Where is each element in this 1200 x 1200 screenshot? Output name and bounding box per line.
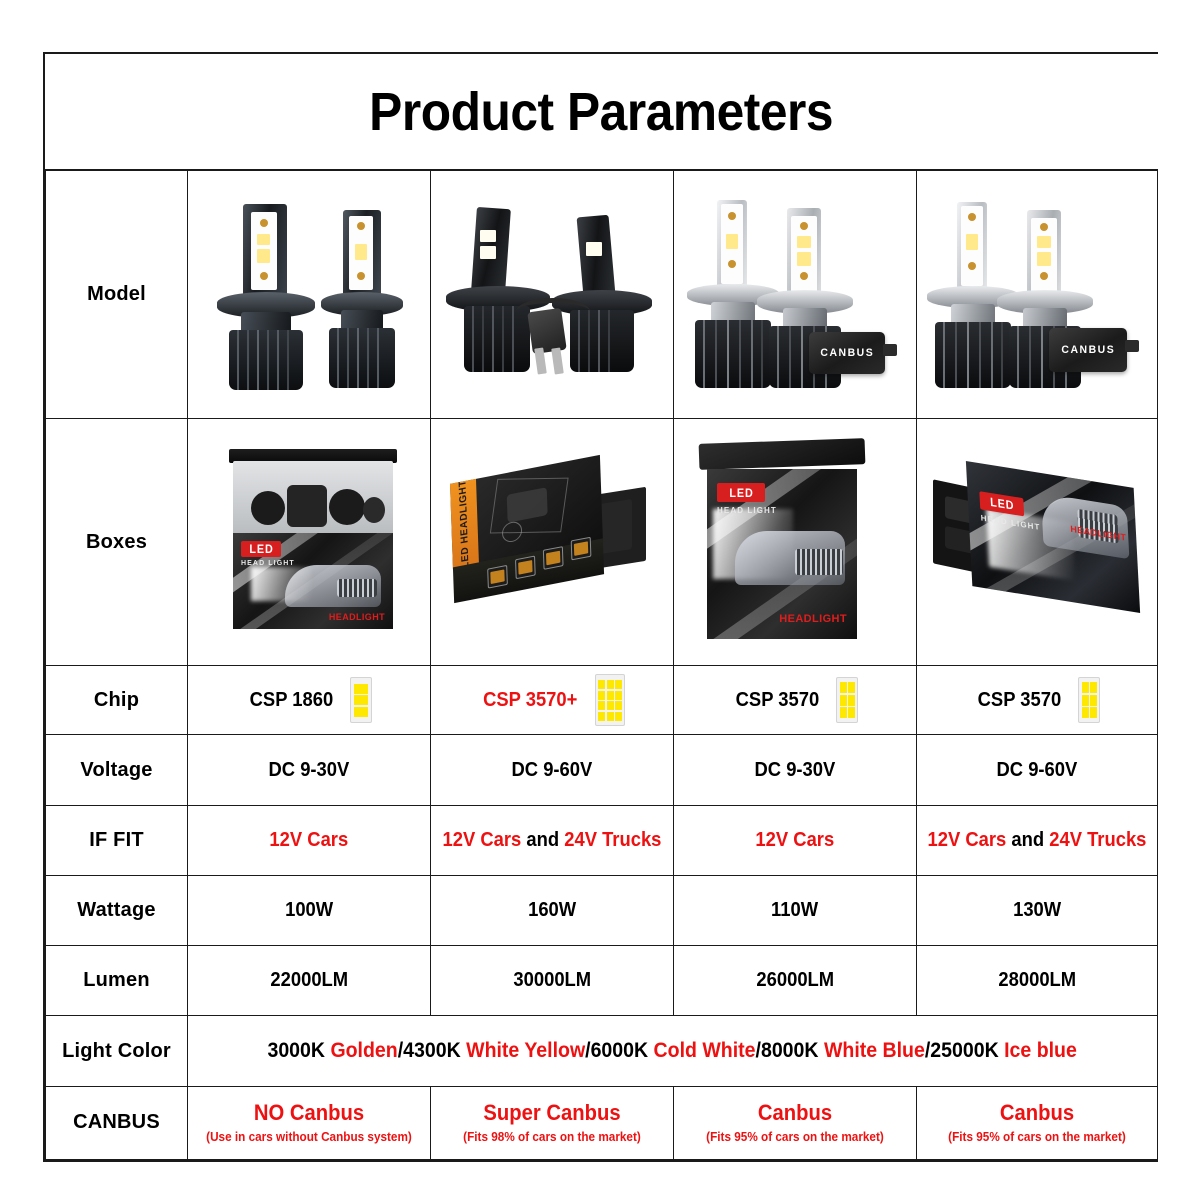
voltage-cell-2: DC 9-60V (431, 735, 674, 805)
voltage-cell-3: DC 9-30V (674, 735, 917, 805)
boxes-cell-1: LED HEAD LIGHT HEADLIGHT (188, 419, 431, 666)
package-image-upright-box: LED HEAD LIGHT HEADLIGHT (674, 419, 916, 665)
chip-value-3: CSP 3570 (735, 689, 819, 712)
led-chip-icon (836, 677, 858, 723)
led-chip-icon (595, 674, 625, 726)
package-image-angled-box: LED HEAD LIGHT HEADLIGHT (917, 419, 1157, 665)
boxes-cell-3: LED HEAD LIGHT HEADLIGHT (674, 419, 917, 666)
canbus-module-connector-alt (1125, 340, 1139, 352)
model-cell-3: CANBUS (674, 170, 917, 418)
lumen-cell-1: 22000LM (188, 946, 431, 1016)
box-brand-label: LED (249, 542, 273, 556)
boxes-cell-2: LED HEADLIGHT (431, 419, 674, 666)
canbus-cell-1: NO Canbus (Use in cars without Canbus sy… (188, 1086, 431, 1159)
product-image-silver-bulbs-canbus: CANBUS (674, 171, 916, 418)
canbus-module-label: CANBUS (820, 347, 874, 359)
row-label-if-fit: IF FIT (46, 805, 188, 875)
chip-cell-4: CSP 3570 (917, 666, 1158, 735)
parameters-table: Product Parameters Model (45, 54, 1158, 1160)
chip-cell-1: CSP 1860 (188, 666, 431, 735)
canbus-main-2: Super Canbus (441, 1101, 664, 1126)
box3-brand-label: LED (729, 486, 753, 500)
chip-value-1: CSP 1860 (249, 689, 333, 712)
canbus-sub-2: (Fits 98% of cars on the market) (438, 1130, 665, 1145)
if-fit-cell-2: 12V Cars and 24V Trucks (431, 805, 674, 875)
row-label-chip: Chip (46, 666, 188, 735)
canbus-module-label-alt: CANBUS (1061, 344, 1115, 356)
page-title: Product Parameters (370, 85, 834, 139)
canbus-module-alt: CANBUS (1049, 328, 1127, 372)
product-image-silver-bulbs-canbus-alt: CANBUS (917, 171, 1157, 418)
power-plug (527, 308, 567, 354)
voltage-cell-1: DC 9-30V (188, 735, 431, 805)
package-image-orange-panel-box: LED HEADLIGHT (431, 419, 673, 665)
canbus-module: CANBUS (809, 332, 885, 374)
light-color-row: Light Color 3000K Golden/4300K White Yel… (46, 1016, 1158, 1086)
product-image-bulbs-black-pair (188, 171, 430, 418)
canbus-sub-3: (Fits 95% of cars on the market) (681, 1130, 908, 1145)
model-cell-2 (431, 170, 674, 418)
row-label-wattage: Wattage (46, 875, 188, 945)
row-label-boxes: Boxes (46, 419, 188, 666)
chip-value-2: CSP 3570+ (483, 689, 577, 712)
canbus-cell-4: Canbus (Fits 95% of cars on the market) (917, 1086, 1158, 1159)
voltage-cell-4: DC 9-60V (917, 735, 1158, 805)
canbus-main-3: Canbus (684, 1101, 907, 1126)
canbus-row: CANBUS NO Canbus (Use in cars without Ca… (46, 1086, 1158, 1159)
model-cell-1 (188, 170, 431, 418)
led-chip-icon (350, 677, 372, 723)
chip-cell-2: CSP 3570+ (431, 666, 674, 735)
box4-brand-label: LED (989, 495, 1014, 513)
wattage-cell-4: 130W (917, 875, 1158, 945)
bulb-h7 (319, 210, 405, 390)
box-footer-label: HEADLIGHT (329, 612, 385, 622)
lumen-row: Lumen 22000LM 30000LM 26000LM 28000LM (46, 946, 1158, 1016)
row-label-model: Model (46, 170, 188, 418)
lumen-cell-4: 28000LM (917, 946, 1158, 1016)
product-image-bulbs-with-plug (431, 171, 673, 418)
row-label-lumen: Lumen (46, 946, 188, 1016)
canbus-cell-3: Canbus (Fits 95% of cars on the market) (674, 1086, 917, 1159)
title-cell: Product Parameters (46, 54, 1158, 170)
wattage-cell-2: 160W (431, 875, 674, 945)
row-label-light-color: Light Color (46, 1016, 188, 1086)
wattage-cell-1: 100W (188, 875, 431, 945)
boxes-row: Boxes (46, 419, 1158, 666)
light-color-cell: 3000K Golden/4300K White Yellow/6000K Co… (188, 1016, 1158, 1086)
parameters-table-frame: Product Parameters Model (43, 52, 1158, 1162)
lumen-cell-2: 30000LM (431, 946, 674, 1016)
wattage-row: Wattage 100W 160W 110W 130W (46, 875, 1158, 945)
canbus-sub-1: (Use in cars without Canbus system) (195, 1130, 422, 1145)
model-row: Model (46, 170, 1158, 418)
canbus-module-connector (883, 344, 897, 356)
chip-value-4: CSP 3570 (977, 689, 1061, 712)
voltage-row: Voltage DC 9-30V DC 9-60V DC 9-30V DC 9-… (46, 735, 1158, 805)
box-panel-label: LED HEADLIGHT (457, 479, 471, 569)
chip-row: Chip CSP 1860 CSP 3570+ (46, 666, 1158, 735)
canbus-main-4: Canbus (927, 1101, 1148, 1126)
bulb-h4 (217, 204, 315, 390)
chip-cell-3: CSP 3570 (674, 666, 917, 735)
if-fit-cell-4: 12V Cars and 24V Trucks (917, 805, 1158, 875)
canbus-cell-2: Super Canbus (Fits 98% of cars on the ma… (431, 1086, 674, 1159)
title-row: Product Parameters (46, 54, 1158, 170)
canbus-main-1: NO Canbus (198, 1101, 421, 1126)
row-label-voltage: Voltage (46, 735, 188, 805)
light-color-values: 3000K Golden/4300K White Yellow/6000K Co… (268, 1039, 1077, 1063)
model-cell-4: CANBUS (917, 170, 1158, 418)
wattage-cell-3: 110W (674, 875, 917, 945)
boxes-cell-4: LED HEAD LIGHT HEADLIGHT (917, 419, 1158, 666)
if-fit-cell-1: 12V Cars (188, 805, 431, 875)
led-chip-icon (1078, 677, 1100, 723)
package-image-open-box: LED HEAD LIGHT HEADLIGHT (188, 419, 430, 665)
row-label-canbus: CANBUS (46, 1086, 188, 1159)
box-brand-sub: HEAD LIGHT (241, 560, 295, 567)
if-fit-cell-3: 12V Cars (674, 805, 917, 875)
canbus-sub-4: (Fits 95% of cars on the market) (924, 1130, 1150, 1145)
bulb-right (550, 216, 654, 376)
if-fit-row: IF FIT 12V Cars 12V Cars and 24V Trucks … (46, 805, 1158, 875)
lumen-cell-3: 26000LM (674, 946, 917, 1016)
box3-footer-label: HEADLIGHT (779, 613, 847, 625)
product-parameters-page: Product Parameters Model (0, 0, 1200, 1200)
box3-brand-sub: HEAD LIGHT (717, 506, 777, 515)
